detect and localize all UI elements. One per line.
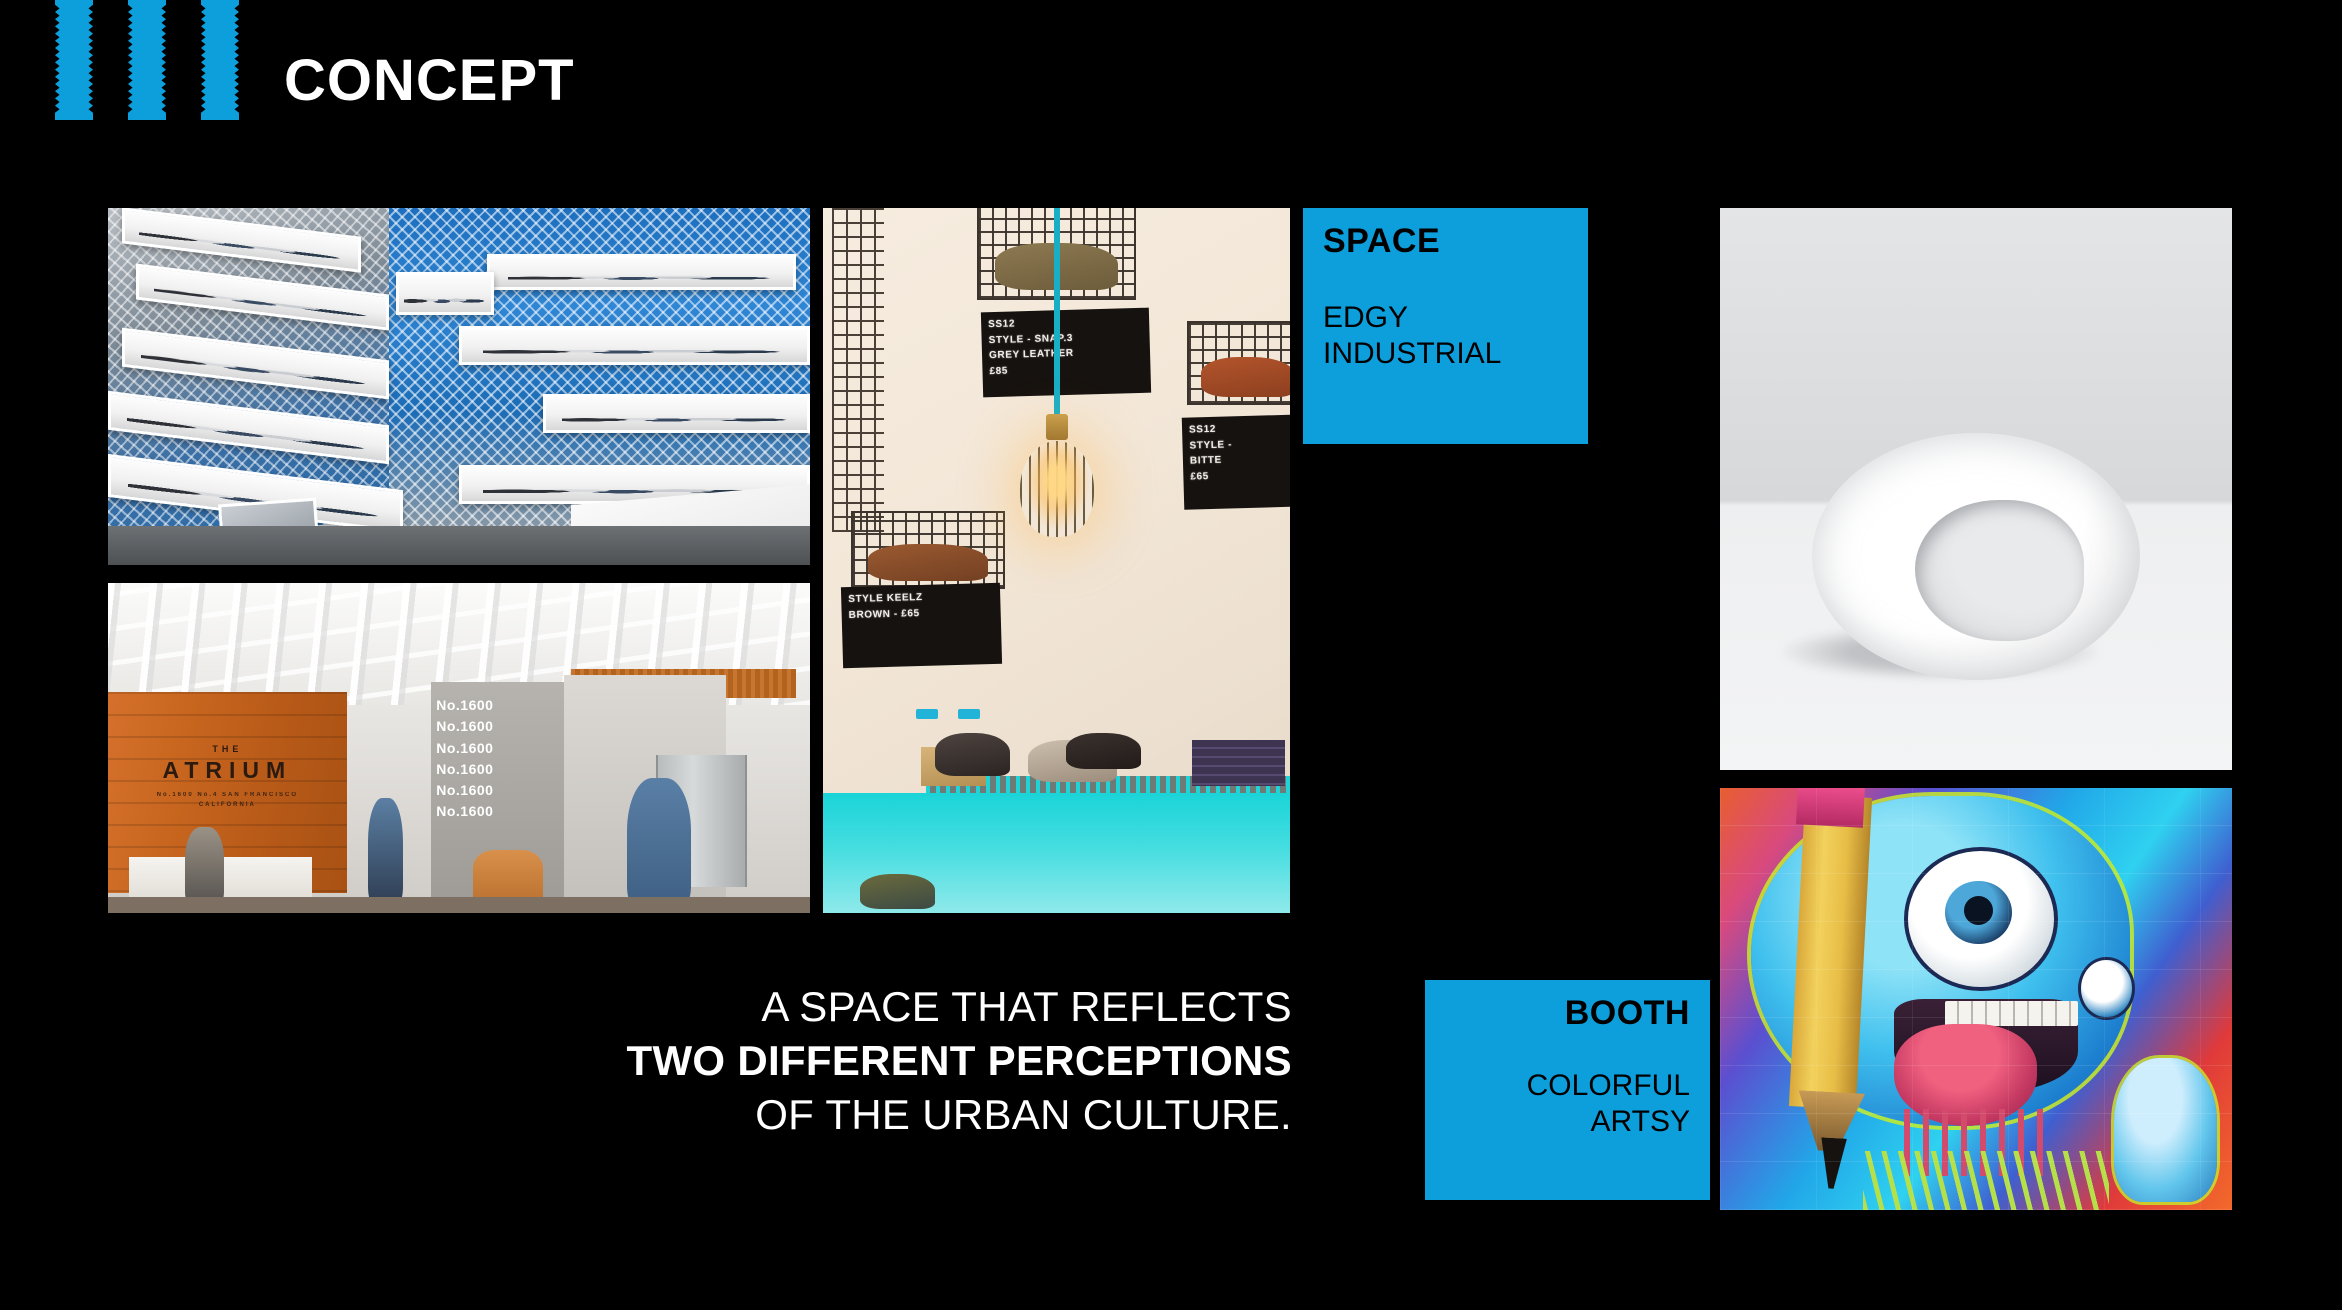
pendant-cord bbox=[1054, 208, 1060, 420]
header-bars-icon bbox=[55, 0, 250, 120]
chalk-label-2: SS12 STYLE - BITTE £65 bbox=[1181, 414, 1290, 509]
atrium-wall-text-small: THE bbox=[212, 744, 242, 754]
caption-line-3: OF THE URBAN CULTURE. bbox=[560, 1088, 1292, 1142]
callout-booth-title: BOOTH bbox=[1445, 996, 1690, 1032]
header-bar-2 bbox=[128, 0, 166, 120]
page-title: CONCEPT bbox=[284, 52, 575, 110]
graffiti-mural-artwork bbox=[1720, 788, 2232, 1210]
callout-space-line2: INDUSTRIAL bbox=[1323, 336, 1568, 373]
concept-caption: A SPACE THAT REFLECTS TWO DIFFERENT PERC… bbox=[560, 980, 1292, 1143]
chalkboard-wall-artwork: SS12 STYLE - SNAP.3 GREY LEATHER £85 SS1… bbox=[823, 208, 1290, 913]
pendant-socket bbox=[1046, 414, 1068, 440]
atrium-lobby-artwork: THE ATRIUM No.1600 No.4 SAN FRANCISCO CA… bbox=[108, 583, 810, 913]
callout-space-title: SPACE bbox=[1323, 224, 1568, 260]
header-bar-3 bbox=[201, 0, 239, 120]
image-chalkboard-wall: SS12 STYLE - SNAP.3 GREY LEATHER £85 SS1… bbox=[823, 208, 1290, 913]
chalk-label-3: STYLE KEELZ BROWN - £65 bbox=[841, 583, 1002, 668]
image-graffiti-mural bbox=[1720, 788, 2232, 1210]
sneaker-store-artwork bbox=[108, 208, 810, 565]
slide-canvas: CONCEPT THE bbox=[0, 0, 2342, 1310]
image-white-sculpture bbox=[1720, 208, 2232, 770]
callout-space: SPACE EDGY INDUSTRIAL bbox=[1303, 208, 1588, 444]
white-sculpture-artwork bbox=[1720, 208, 2232, 770]
callout-space-line1: EDGY bbox=[1323, 300, 1568, 337]
atrium-wall-text-sub: No.1600 No.4 SAN FRANCISCO CALIFORNIA bbox=[137, 790, 318, 810]
caption-line-2: TWO DIFFERENT PERCEPTIONS bbox=[560, 1034, 1292, 1088]
chalk-label-1: SS12 STYLE - SNAP.3 GREY LEATHER £85 bbox=[981, 308, 1151, 397]
callout-booth: BOOTH COLORFUL ARTSY bbox=[1425, 980, 1710, 1200]
image-sneaker-store bbox=[108, 208, 810, 565]
image-atrium-lobby: THE ATRIUM No.1600 No.4 SAN FRANCISCO CA… bbox=[108, 583, 810, 913]
atrium-wall-text-big: ATRIUM bbox=[137, 757, 318, 784]
callout-booth-line2: ARTSY bbox=[1445, 1104, 1690, 1141]
caged-edison-bulb bbox=[1020, 441, 1094, 537]
caption-line-1: A SPACE THAT REFLECTS bbox=[560, 980, 1292, 1034]
header-bar-1 bbox=[55, 0, 93, 120]
callout-booth-line1: COLORFUL bbox=[1445, 1068, 1690, 1105]
